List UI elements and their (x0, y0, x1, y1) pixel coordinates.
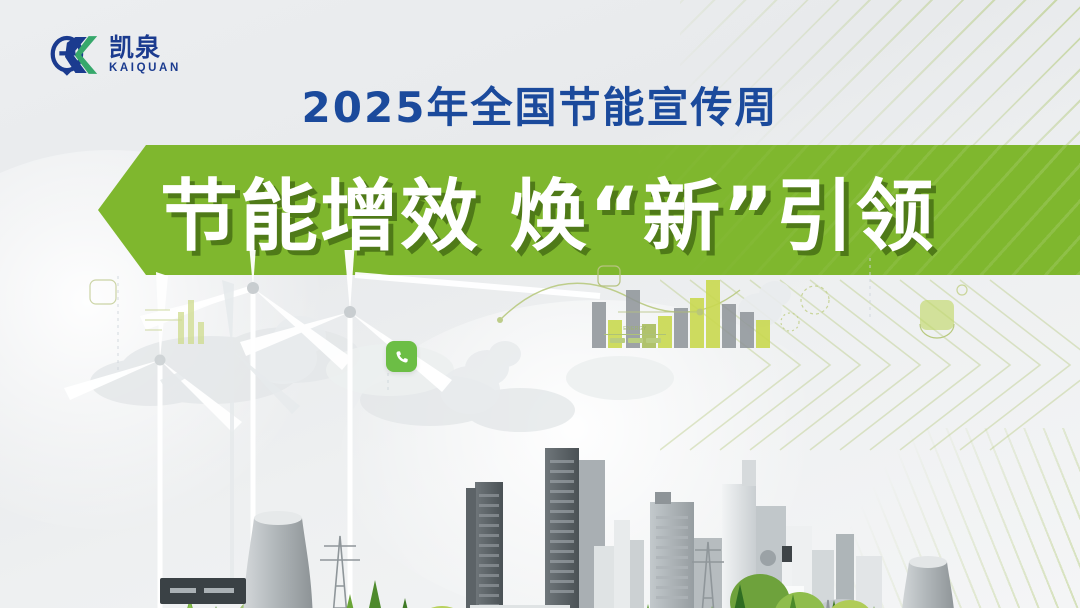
green-energy-illustration (0, 250, 1080, 608)
campaign-subtitle: 2025年全国节能宣传周 (0, 74, 1080, 135)
poster-canvas: 凯泉 KAIQUAN 2025年全国节能宣传周 节能增效 焕“新”引领 (0, 0, 1080, 608)
scene-mini-label: ENERGY (604, 326, 666, 343)
brand-name-cn: 凯泉 (109, 35, 181, 60)
scene-mini-label-dashes (604, 338, 666, 343)
kaiquan-logo-mark-icon (48, 32, 100, 78)
phone-icon-badge[interactable] (386, 341, 417, 372)
brand-logo[interactable]: 凯泉 KAIQUAN (48, 32, 181, 78)
scene-mini-label-text: ENERGY (604, 326, 666, 332)
brand-logo-text: 凯泉 KAIQUAN (109, 35, 181, 75)
scene-mini-label-rule (604, 334, 666, 335)
phone-icon (394, 349, 410, 365)
